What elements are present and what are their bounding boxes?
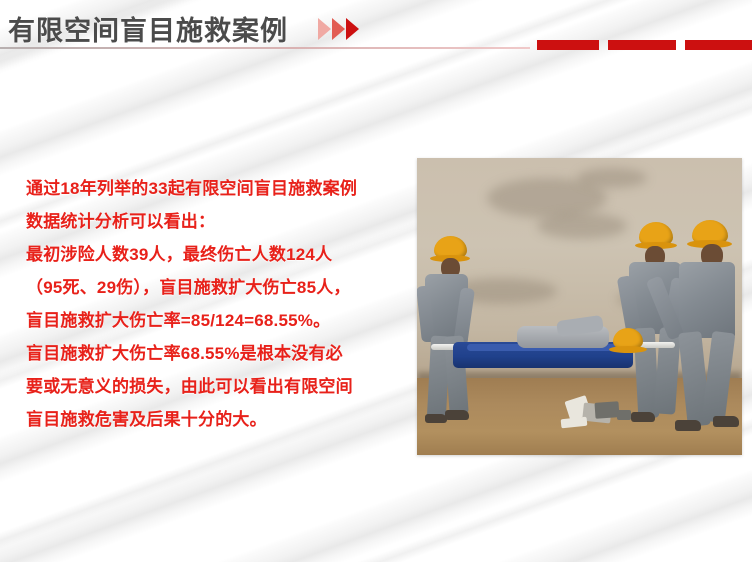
header-bar-segment-1 xyxy=(537,40,599,50)
worker-shoe xyxy=(713,416,739,427)
chevron-arrows-icon xyxy=(318,18,374,40)
worker-shoe xyxy=(425,414,447,423)
wall-stain xyxy=(577,168,647,188)
wall-stain xyxy=(537,213,627,239)
body-text-line: 盲目施救扩大伤亡率=85/124=68.55%。 xyxy=(26,304,414,337)
chevron-right-icon-3 xyxy=(346,18,359,40)
worker-shoe xyxy=(675,420,701,431)
body-text-line: 盲目施救危害及后果十分的大。 xyxy=(26,403,414,436)
body-text-line: 最初涉险人数39人，最终伤亡人数124人 xyxy=(26,238,414,271)
chevron-right-icon-2 xyxy=(332,18,345,40)
rescue-photo xyxy=(417,158,742,455)
body-text-line: （95死、29伤），盲目施救扩大伤亡85人， xyxy=(26,271,414,304)
victim-hard-hat-brim xyxy=(609,346,647,353)
ground-debris xyxy=(617,410,631,420)
body-text-line: 要或无意义的损失，由此可以看出有限空间 xyxy=(26,370,414,403)
body-text-line: 数据统计分析可以看出： xyxy=(26,205,414,238)
chevron-right-icon-1 xyxy=(318,18,331,40)
slide-header: 有限空间盲目施救案例 xyxy=(0,0,752,52)
body-text-line: 盲目施救扩大伤亡率68.55%是根本没有必 xyxy=(26,337,414,370)
header-bar-segment-3 xyxy=(685,40,752,50)
worker-shoe xyxy=(631,412,655,422)
slide-root: 有限空间盲目施救案例 通过18年列举的33起有限空间盲目施救案例 数据统计分析可… xyxy=(0,0,752,562)
body-text-block: 通过18年列举的33起有限空间盲目施救案例 数据统计分析可以看出： 最初涉险人数… xyxy=(26,172,414,436)
worker-shoe xyxy=(445,410,469,420)
header-divider xyxy=(0,47,530,49)
page-title: 有限空间盲目施救案例 xyxy=(8,9,288,48)
body-text-line: 通过18年列举的33起有限空间盲目施救案例 xyxy=(26,172,414,205)
ground-debris xyxy=(594,401,619,419)
header-bar-segment-2 xyxy=(608,40,676,50)
worker-torso xyxy=(679,262,735,338)
